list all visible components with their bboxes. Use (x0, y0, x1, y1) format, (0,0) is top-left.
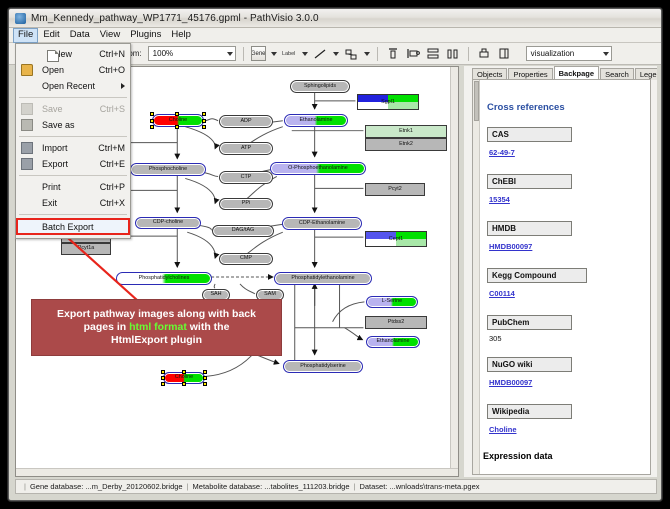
menu-separator-1 (19, 97, 127, 98)
label-tool-button[interactable]: Label (281, 46, 297, 62)
menu-export[interactable]: Export Ctrl+E (16, 156, 130, 172)
interaction-tool-chevron-icon[interactable] (364, 52, 370, 56)
menu-separator-3 (19, 175, 127, 176)
menu-item-label: Exit (42, 198, 57, 208)
menu-import[interactable]: Import Ctrl+M (16, 140, 130, 156)
node-phosphatidylserine[interactable]: Phosphatidylserine (283, 360, 363, 373)
menu-bar: File Edit Data View Plugins Help (9, 28, 661, 43)
status-gene-db-label: Gene database: (30, 482, 83, 491)
menu-item-label: Open (42, 65, 64, 75)
menu-accelerator: Ctrl+N (99, 49, 125, 59)
status-bar: | Gene database: ...m_Derby_20120602.bri… (15, 479, 657, 494)
node-label: Sphingolipids (304, 84, 336, 89)
menu-file[interactable]: File (13, 28, 38, 43)
field-hmdb: HMDB (487, 221, 572, 236)
line-tool-chevron-icon[interactable] (333, 52, 339, 56)
toolbar-divider-2 (377, 47, 378, 61)
interaction-tool-icon[interactable] (343, 46, 359, 62)
node-choline-top[interactable]: Choline (152, 114, 204, 127)
annotation-line2-a: pages in (84, 321, 130, 333)
node-cmp[interactable]: CMP (219, 253, 273, 265)
node-label: Ethanolamine (367, 337, 419, 347)
side-panel: Objects Properties Backpage Search Legen… (464, 66, 657, 477)
backpage-scrollbar[interactable] (473, 80, 480, 474)
menu-plugins[interactable]: Plugins (125, 28, 166, 43)
toolbar-divider (243, 47, 244, 61)
window-title: Mm_Kennedy_pathway_WP1771_45176.gpml - P… (31, 13, 319, 24)
node-label: ADP (240, 119, 251, 124)
menu-new[interactable]: New Ctrl+N (16, 46, 130, 62)
node-l-serine[interactable]: L-Serine (366, 296, 418, 308)
annotation-line1: Export pathway images along with back (57, 308, 256, 320)
node-label: Ethanolamine (285, 115, 347, 126)
import-icon (21, 142, 33, 154)
node-o-phosphoethanolamine[interactable]: O-Phosphoethanolamine (270, 162, 366, 175)
node-cdp-ethanolamine[interactable]: CDP-Ethanolamine (282, 217, 362, 230)
visualization-select[interactable]: visualization (526, 46, 612, 61)
menu-open-recent[interactable]: Open Recent (16, 78, 130, 94)
status-dataset-value: ...wnloads\trans-meta.pgex (389, 482, 479, 491)
node-ctp[interactable]: CTP (219, 171, 273, 184)
side-panel-tabs: Objects Properties Backpage Search Legen… (472, 66, 657, 80)
menu-accelerator: Ctrl+O (99, 65, 125, 75)
chevron-down-icon-2 (603, 52, 609, 56)
node-atp[interactable]: ATP (219, 142, 273, 155)
label-tool-chevron-icon[interactable] (302, 52, 308, 56)
gene-cept1[interactable]: Cept1 (365, 231, 427, 247)
status-metabolite-db-value: ...tabolites_111203.bridge (264, 482, 349, 491)
node-ethanolamine-2[interactable]: Ethanolamine (366, 336, 420, 348)
node-label: DAG/tAG (232, 228, 254, 233)
node-label: L-Serine (367, 297, 417, 307)
backpage-panel: Cross references CAS 62-49-7 ChEBI 15354… (472, 79, 651, 475)
menu-print[interactable]: Print Ctrl+P (16, 179, 130, 195)
link-cas-value[interactable]: 62-49-7 (489, 148, 515, 157)
status-divider-1: | (187, 482, 189, 491)
align-top-icon[interactable] (385, 46, 401, 62)
field-nugo-wiki: NuGO wiki (487, 357, 572, 372)
field-wikipedia: Wikipedia (487, 404, 572, 419)
export-icon (21, 158, 33, 170)
menu-separator-2 (19, 136, 127, 137)
node-label: Phosphatidylserine (300, 364, 346, 369)
field-chebi: ChEBI (487, 174, 572, 189)
canvas-scrollbar-vertical[interactable] (450, 67, 458, 476)
gene-label: Sgpl1 (358, 95, 418, 109)
gene-etnk2[interactable]: Etnk2 (365, 138, 447, 151)
annotation-line3: HtmlExport plugin (111, 334, 202, 346)
node-label: Phosphocholine (149, 167, 187, 172)
open-folder-icon (21, 64, 33, 76)
link-hmdb-value[interactable]: HMDB00097 (489, 242, 532, 251)
cross-references-heading: Cross references (487, 102, 650, 113)
visualization-value: visualization (531, 49, 575, 58)
menu-exit[interactable]: Exit Ctrl+X (16, 195, 130, 211)
menu-item-label: Open Recent (42, 81, 95, 91)
node-label: SAM (264, 292, 276, 297)
node-label: Phosphatidylethanolamine (291, 276, 354, 281)
menu-open[interactable]: Open Ctrl+O (16, 62, 130, 78)
gene-label: Cept1 (366, 232, 426, 246)
chevron-down-icon (227, 52, 233, 56)
sidebar-toggle-icon[interactable] (496, 46, 512, 62)
menu-accelerator: Ctrl+M (98, 143, 125, 153)
node-label: CMP (240, 256, 252, 261)
save-as-icon (21, 119, 33, 131)
field-kegg-compound: Kegg Compound (487, 268, 587, 283)
node-label: CTP (241, 175, 252, 180)
gene-label: Pcyt2 (388, 187, 401, 192)
menu-data[interactable]: Data (65, 28, 95, 43)
node-cdp-choline[interactable]: CDP-choline (135, 217, 201, 229)
gene-sgpl1[interactable]: Sgpl1 (357, 94, 419, 110)
status-divider-2: | (353, 482, 355, 491)
zoom-value: 100% (153, 49, 173, 58)
status-dataset-label: Dataset: (359, 482, 387, 491)
node-label: PPi (242, 201, 250, 206)
menu-save: Save Ctrl+S (16, 101, 130, 117)
gene-pcyt1a[interactable]: Pcyt1a (61, 243, 111, 255)
node-ethanolamine[interactable]: Ethanolamine (284, 114, 348, 127)
tab-backpage[interactable]: Backpage (554, 66, 599, 80)
print-icon[interactable] (476, 46, 492, 62)
screenshot-root: Mm_Kennedy_pathway_WP1771_45176.gpml - P… (0, 0, 670, 509)
zoom-select[interactable]: 100% (148, 46, 236, 61)
save-icon (21, 103, 33, 115)
field-cas: CAS (487, 127, 572, 142)
menu-edit[interactable]: Edit (38, 28, 64, 43)
link-wikipedia-value[interactable]: Choline (489, 425, 517, 434)
gene-label: Pcyt1a (78, 246, 94, 251)
field-pubchem: PubChem (487, 315, 572, 330)
link-nugo-value[interactable]: HMDB00097 (489, 378, 532, 387)
node-label: O-Phosphoethanolamine (271, 163, 365, 174)
menu-accelerator: Ctrl+E (100, 159, 125, 169)
node-label: Phosphatidylcholines (117, 273, 211, 284)
menu-item-label: Batch Export (42, 222, 94, 232)
node-phosphocholine[interactable]: Phosphocholine (130, 163, 206, 176)
menu-accelerator: Ctrl+X (100, 198, 125, 208)
menu-item-label: Export (42, 159, 68, 169)
annotation-text: Export pathway images along with back pa… (57, 308, 256, 347)
node-label: ATP (241, 146, 251, 151)
align-left-icon[interactable] (405, 46, 421, 62)
link-chebi-value[interactable]: 15354 (489, 195, 510, 204)
new-document-icon (47, 50, 59, 62)
node-ppi[interactable]: PPi (219, 198, 273, 210)
gene-ptdss2[interactable]: Ptdss2 (365, 316, 427, 329)
toolbar-divider-3 (468, 47, 469, 61)
menu-separator-4 (19, 214, 127, 215)
annotation-callout: Export pathway images along with back pa… (31, 299, 282, 356)
application-window: Mm_Kennedy_pathway_WP1771_45176.gpml - P… (8, 8, 662, 501)
gene-etnk1[interactable]: Etnk1 (365, 125, 447, 138)
gene-tool-button[interactable]: Gene (251, 46, 266, 61)
link-kegg-value[interactable]: C00114 (489, 289, 515, 298)
menu-accelerator: Ctrl+S (100, 104, 125, 114)
canvas-scrollbar-horizontal[interactable] (16, 468, 458, 476)
node-phosphatidylcholines[interactable]: Phosphatidylcholines (116, 272, 212, 285)
submenu-arrow-icon (121, 83, 125, 89)
gene-label: Etnk1 (399, 129, 413, 134)
title-bar: Mm_Kennedy_pathway_WP1771_45176.gpml - P… (9, 9, 661, 28)
menu-item-label: Save as (42, 120, 75, 130)
status-gene-db-value: ...m_Derby_20120602.bridge (85, 482, 182, 491)
gene-tool-chevron-icon[interactable] (271, 52, 277, 56)
menu-item-label: Import (42, 143, 68, 153)
expression-data-heading: Expression data (483, 451, 650, 461)
node-adp[interactable]: ADP (219, 115, 273, 128)
menu-help[interactable]: Help (166, 28, 196, 43)
node-sphingolipids[interactable]: Sphingolipids (290, 80, 350, 93)
menu-item-label: Print (42, 182, 61, 192)
node-dag-tag[interactable]: DAG/tAG (212, 225, 274, 237)
node-label: CDP-Ethanolamine (299, 221, 345, 226)
menu-save-as[interactable]: Save as (16, 117, 130, 133)
value-pubchem: 305 (489, 334, 650, 343)
node-label: CDP-choline (153, 220, 183, 225)
backpage-content: Cross references CAS 62-49-7 ChEBI 15354… (482, 80, 650, 461)
node-phosphatidylethanolamine[interactable]: Phosphatidylethanolamine (274, 272, 372, 285)
menu-view[interactable]: View (95, 28, 125, 43)
node-label: SAH (210, 292, 221, 297)
menu-accelerator: Ctrl+P (100, 182, 125, 192)
status-divider-0: | (24, 482, 26, 491)
stack-vertical-icon[interactable] (425, 46, 441, 62)
menu-batch-export[interactable]: Batch Export (16, 218, 130, 235)
gene-pcyt2[interactable]: Pcyt2 (365, 183, 425, 196)
status-metabolite-db-label: Metabolite database: (193, 482, 263, 491)
gene-label: Etnk2 (399, 142, 413, 147)
file-menu-dropdown: New Ctrl+N Open Ctrl+O Open Recent Save … (15, 43, 131, 239)
node-choline-bottom[interactable]: Choline (163, 372, 205, 384)
menu-item-label: Save (42, 104, 63, 114)
stack-horizontal-icon[interactable] (445, 46, 461, 62)
line-tool-icon[interactable] (312, 46, 328, 62)
annotation-highlight: html format (129, 321, 187, 333)
scrollbar-thumb[interactable] (474, 81, 479, 121)
gene-label: Ptdss2 (388, 320, 404, 325)
annotation-line2-b: with the (187, 321, 230, 333)
pathvisio-icon (15, 13, 26, 24)
